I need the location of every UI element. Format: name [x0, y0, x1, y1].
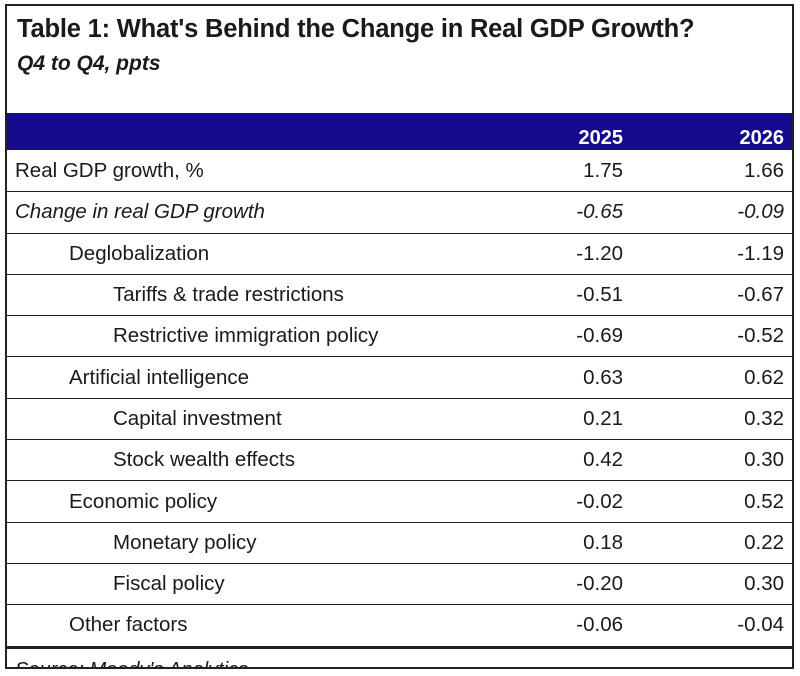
cell-2026: 0.32 — [632, 407, 792, 431]
row-label: Capital investment — [7, 407, 482, 431]
table-subtitle: Q4 to Q4, ppts — [17, 52, 782, 76]
cell-2026: 0.22 — [632, 531, 792, 555]
cell-2026: -0.04 — [632, 613, 792, 637]
table-row: Artificial intelligence0.630.62 — [7, 356, 792, 397]
table-row: Change in real GDP growth-0.65-0.09 — [7, 191, 792, 232]
column-header-2025: 2025 — [482, 128, 632, 148]
cell-2026: 0.30 — [632, 448, 792, 472]
row-label: Monetary policy — [7, 531, 482, 555]
row-label: Fiscal policy — [7, 572, 482, 596]
row-label: Other factors — [7, 613, 482, 637]
table-row: Monetary policy0.180.22 — [7, 522, 792, 563]
cell-2026: -0.09 — [632, 200, 792, 224]
cell-2025: 0.21 — [482, 407, 632, 431]
row-label: Real GDP growth, % — [7, 159, 482, 183]
row-label: Stock wealth effects — [7, 448, 482, 472]
table-container: Table 1: What's Behind the Change in Rea… — [5, 4, 794, 669]
table-row: Economic policy-0.020.52 — [7, 480, 792, 521]
cell-2026: -1.19 — [632, 242, 792, 266]
title-block: Table 1: What's Behind the Change in Rea… — [7, 6, 792, 113]
cell-2025: 0.42 — [482, 448, 632, 472]
cell-2025: 0.63 — [482, 366, 632, 390]
table-row: Other factors-0.06-0.04 — [7, 604, 792, 645]
page-title: Table 1: What's Behind the Change in Rea… — [17, 15, 782, 44]
cell-2025: -0.65 — [482, 200, 632, 224]
source-text: Source: Moody's Analytics — [7, 659, 248, 669]
table-row: Stock wealth effects0.420.30 — [7, 439, 792, 480]
cell-2026: 0.62 — [632, 366, 792, 390]
row-label: Restrictive immigration policy — [7, 324, 482, 348]
table-header-row: 2025 2026 — [7, 113, 792, 150]
table-row: Restrictive immigration policy-0.69-0.52 — [7, 315, 792, 356]
table-body: Real GDP growth, %1.751.66Change in real… — [7, 150, 792, 646]
cell-2025: 0.18 — [482, 531, 632, 555]
cell-2025: 1.75 — [482, 159, 632, 183]
cell-2025: -0.69 — [482, 324, 632, 348]
cell-2025: -0.02 — [482, 490, 632, 514]
cell-2025: -0.06 — [482, 613, 632, 637]
column-header-2026: 2026 — [632, 128, 792, 148]
table-row: Fiscal policy-0.200.30 — [7, 563, 792, 604]
cell-2026: 0.30 — [632, 572, 792, 596]
cell-2025: -0.51 — [482, 283, 632, 307]
row-label: Economic policy — [7, 490, 482, 514]
table-row: Deglobalization-1.20-1.19 — [7, 233, 792, 274]
cell-2026: -0.67 — [632, 283, 792, 307]
source-row: Source: Moody's Analytics — [7, 646, 792, 669]
table-row: Real GDP growth, %1.751.66 — [7, 150, 792, 191]
row-label: Deglobalization — [7, 242, 482, 266]
cell-2026: 1.66 — [632, 159, 792, 183]
row-label: Change in real GDP growth — [7, 200, 482, 224]
cell-2026: 0.52 — [632, 490, 792, 514]
cell-2025: -1.20 — [482, 242, 632, 266]
row-label: Artificial intelligence — [7, 366, 482, 390]
cell-2026: -0.52 — [632, 324, 792, 348]
table-row: Capital investment0.210.32 — [7, 398, 792, 439]
table-row: Tariffs & trade restrictions-0.51-0.67 — [7, 274, 792, 315]
cell-2025: -0.20 — [482, 572, 632, 596]
row-label: Tariffs & trade restrictions — [7, 283, 482, 307]
